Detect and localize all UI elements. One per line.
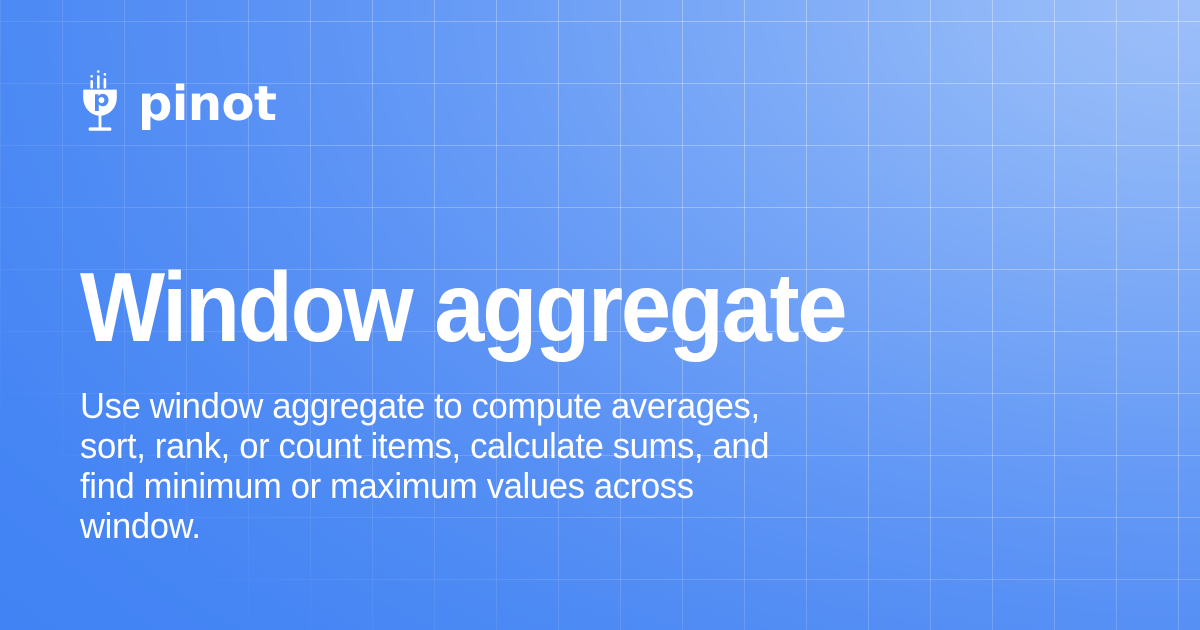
social-card: pinot Window aggregate Use window aggreg… bbox=[0, 0, 1200, 630]
brand-lockup: pinot bbox=[78, 68, 276, 134]
page-title: Window aggregate bbox=[80, 258, 1000, 356]
page-description: Use window aggregate to compute averages… bbox=[80, 386, 810, 546]
card-content: pinot Window aggregate Use window aggreg… bbox=[0, 0, 1200, 630]
brand-wordmark: pinot bbox=[138, 80, 276, 128]
pinot-wine-glass-icon bbox=[78, 68, 122, 134]
